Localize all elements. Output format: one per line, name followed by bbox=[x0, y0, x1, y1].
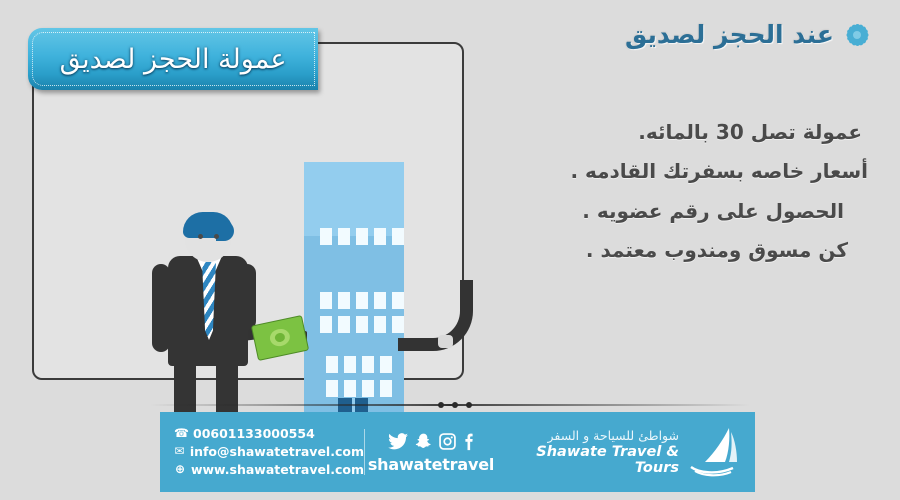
list-item: كن مسوق ومندوب معتمد . bbox=[462, 236, 848, 264]
social-handle: shawatetravel bbox=[365, 455, 497, 474]
brand-name-english: Shawate Travel & Tours bbox=[497, 444, 679, 476]
globe-icon: ⊕ bbox=[174, 461, 186, 478]
contact-phone-text: 00601133000554 bbox=[193, 425, 315, 443]
contact-website[interactable]: ⊕ www.shawatetravel.com bbox=[174, 461, 364, 479]
flower-asterisk-icon bbox=[844, 22, 870, 48]
ribbon-banner: عمولة الحجز لصديق bbox=[28, 28, 318, 90]
contact-block: ☎ 00601133000554 ✉ info@shawatetravel.co… bbox=[160, 425, 364, 479]
arm-icon bbox=[398, 280, 473, 351]
contact-email-text: info@shawatetravel.com bbox=[190, 443, 364, 461]
sailboat-logo-icon bbox=[685, 426, 741, 478]
snapchat-icon[interactable] bbox=[415, 433, 432, 450]
phone-whatsapp-icon: ☎ bbox=[174, 425, 188, 442]
ribbon-title: عمولة الحجز لصديق bbox=[28, 28, 318, 90]
brand-name-arabic: شواطئ للسياحة و السفر bbox=[497, 428, 679, 443]
list-item: أسعار خاصه بسفرتك القادمه . bbox=[462, 157, 868, 185]
contact-email[interactable]: ✉ info@shawatetravel.com bbox=[174, 443, 364, 461]
promo-graphic: عمولة الحجز لصديق عند الحجز لصديق عمولة … bbox=[0, 0, 900, 500]
social-block: shawatetravel bbox=[365, 431, 497, 474]
card-illustration bbox=[68, 88, 496, 422]
footer-bar: ☎ 00601133000554 ✉ info@shawatetravel.co… bbox=[160, 412, 755, 492]
benefits-list: عمولة تصل 30 بالمائه. أسعار خاصه بسفرتك … bbox=[462, 118, 862, 276]
illustration-card bbox=[32, 42, 464, 380]
brand-block: شواطئ للسياحة و السفر Shawate Travel & T… bbox=[497, 426, 755, 478]
ornamental-divider bbox=[150, 400, 750, 410]
facebook-icon[interactable] bbox=[463, 433, 474, 451]
contact-website-text: www.shawatetravel.com bbox=[191, 461, 364, 479]
page-title: عند الحجز لصديق bbox=[625, 20, 834, 49]
contact-phone[interactable]: ☎ 00601133000554 bbox=[174, 425, 364, 443]
list-item: عمولة تصل 30 بالمائه. bbox=[462, 118, 862, 146]
header: عند الحجز لصديق bbox=[625, 20, 870, 49]
email-icon: ✉ bbox=[174, 443, 185, 460]
list-item: الحصول على رقم عضويه . bbox=[462, 197, 844, 225]
banknote-icon bbox=[251, 315, 309, 361]
instagram-icon[interactable] bbox=[439, 433, 456, 450]
twitter-icon[interactable] bbox=[388, 433, 408, 450]
